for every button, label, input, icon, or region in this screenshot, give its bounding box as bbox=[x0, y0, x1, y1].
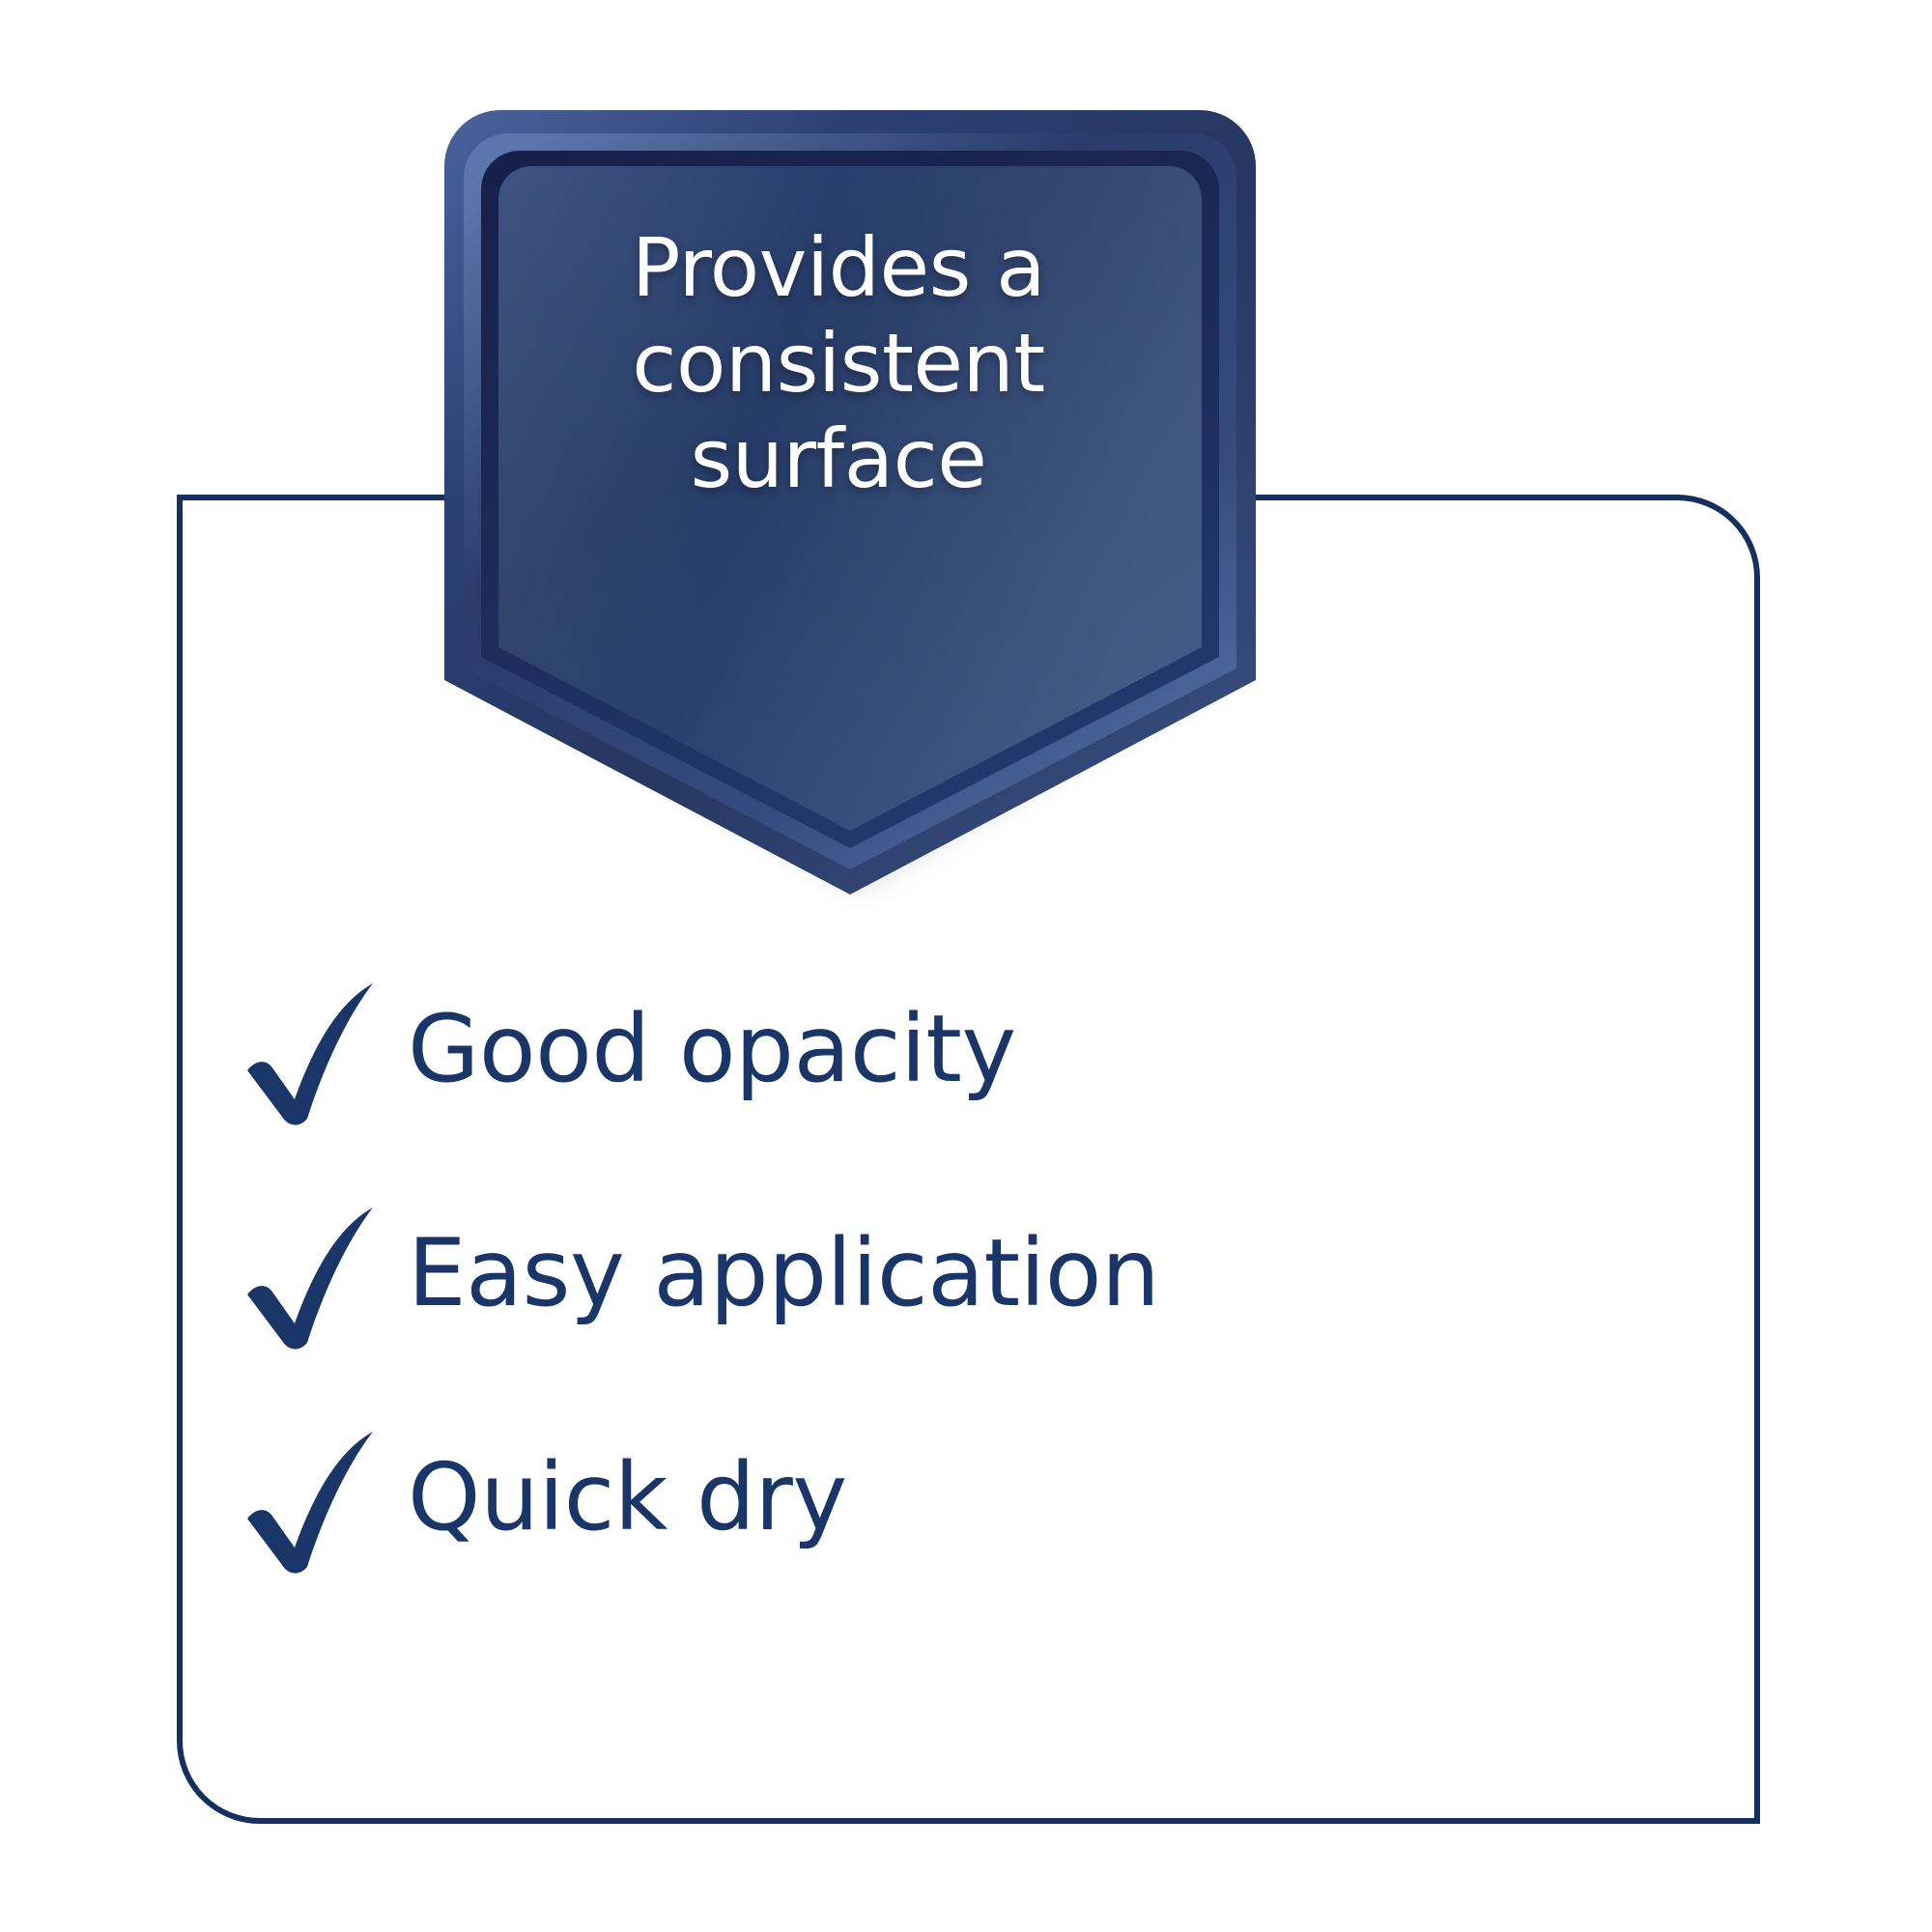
badge-line-2: consistent bbox=[439, 316, 1238, 412]
list-item-label: Easy application bbox=[408, 1227, 1159, 1329]
list-item: Good opacity bbox=[241, 942, 1690, 1166]
list-item-label: Good opacity bbox=[408, 1003, 1016, 1105]
list-item-label: Quick dry bbox=[408, 1451, 847, 1553]
list-item: Easy application bbox=[241, 1166, 1690, 1390]
check-mark-icon bbox=[241, 981, 386, 1126]
badge-line-1: Provides a bbox=[439, 220, 1238, 316]
check-mark-icon bbox=[241, 1430, 386, 1575]
feature-checklist: Good opacity Easy application Quick dry bbox=[241, 942, 1690, 1614]
shield-badge: Provides a consistent surface bbox=[425, 97, 1275, 908]
badge-line-3: surface bbox=[439, 412, 1238, 507]
list-item: Quick dry bbox=[241, 1390, 1690, 1614]
promo-graphic: Provides a consistent surface Good opaci… bbox=[0, 0, 1932, 1932]
check-mark-icon bbox=[241, 1206, 386, 1350]
badge-text: Provides a consistent surface bbox=[439, 220, 1238, 507]
